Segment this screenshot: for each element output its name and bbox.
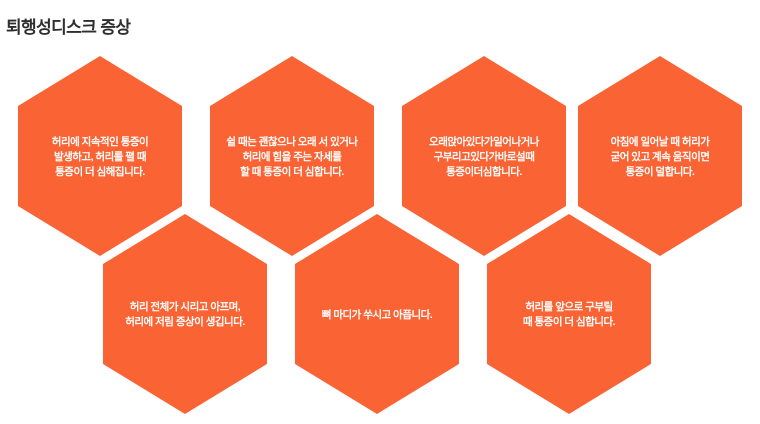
symptom-hexagon-7-label: 허리를 앞으로 구부릴 때 통증이 더 심합니다. <box>494 300 644 330</box>
symptom-hexagon-2-label: 쉴 때는 괜찮으나 오래 서 있거나 허리에 힘을 주는 자세를 할 때 통증이… <box>217 135 367 180</box>
symptom-hexagon-6: 뼈 마디가 쑤시고 아픕니다. <box>295 214 459 414</box>
symptom-hexagon-3-label: 오래앉아있다가일어나거나 구부리고있다가바로설때 통증이더심합니다. <box>409 135 559 180</box>
symptom-hexagon-4: 아침에 일어날 때 허리가 굳어 있고 계속 움직이면 통증이 덜합니다. <box>578 56 742 256</box>
symptom-hexagon-4-label: 아침에 일어날 때 허리가 굳어 있고 계속 움직이면 통증이 덜합니다. <box>585 135 735 180</box>
symptom-hexagon-5-label: 허리 전체가 시리고 아프며, 허리에 저림 증상이 생깁니다. <box>110 300 260 330</box>
symptom-hexagon-7: 허리를 앞으로 구부릴 때 통증이 더 심합니다. <box>487 214 651 414</box>
symptom-hexagon-board: 허리에 지속적인 통증이 발생하고, 허리를 펼 때 통증이 더 심해집니다. … <box>0 0 760 424</box>
symptom-hexagon-3: 오래앉아있다가일어나거나 구부리고있다가바로설때 통증이더심합니다. <box>402 56 566 256</box>
symptom-hexagon-6-label: 뼈 마디가 쑤시고 아픕니다. <box>302 308 452 323</box>
symptom-hexagon-1-label: 허리에 지속적인 통증이 발생하고, 허리를 펼 때 통증이 더 심해집니다. <box>25 135 175 180</box>
symptom-hexagon-2: 쉴 때는 괜찮으나 오래 서 있거나 허리에 힘을 주는 자세를 할 때 통증이… <box>210 56 374 256</box>
symptom-hexagon-1: 허리에 지속적인 통증이 발생하고, 허리를 펼 때 통증이 더 심해집니다. <box>18 56 182 256</box>
symptom-hexagon-5: 허리 전체가 시리고 아프며, 허리에 저림 증상이 생깁니다. <box>103 214 267 414</box>
